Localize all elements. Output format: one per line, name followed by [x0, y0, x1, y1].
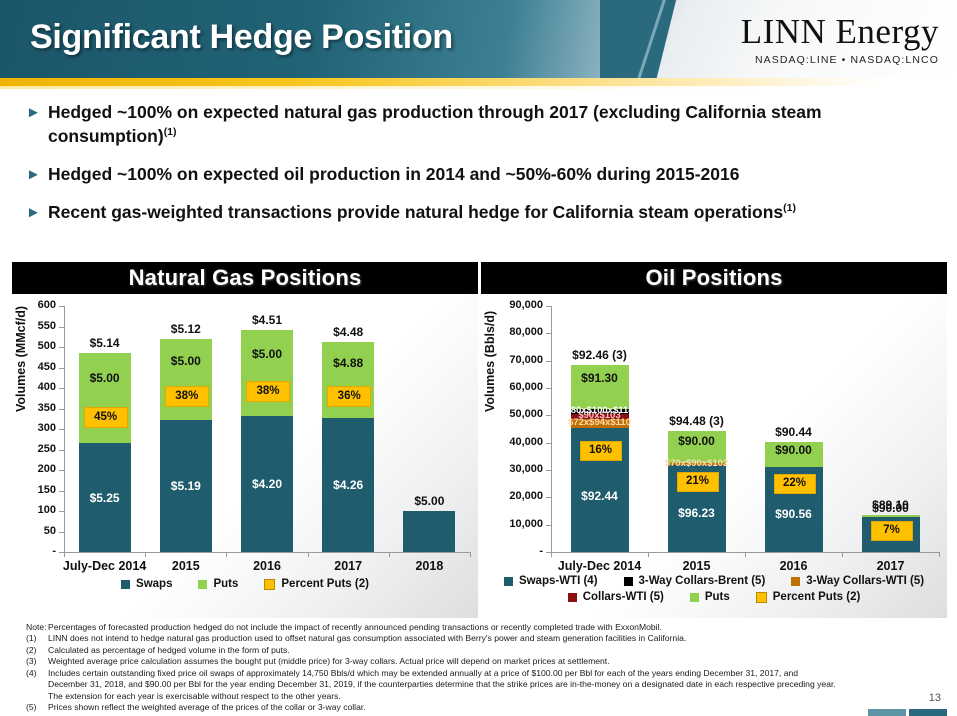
footnote-ref: (1)	[783, 203, 796, 215]
y-axis-tick-label: 450	[26, 361, 56, 373]
footnote-row: (1)LINN does not intend to hedge natural…	[26, 633, 936, 644]
legend-swatch	[624, 577, 633, 586]
bar-puts-price-label: $5.00	[221, 347, 313, 361]
bar-puts-price-label: $90.00	[743, 443, 845, 457]
slide: Significant Hedge Position LINN Energy N…	[0, 0, 957, 716]
footnote-marker: (2)	[26, 645, 48, 656]
footnote-marker: Note:	[26, 622, 48, 633]
bar-total-label: $90.44	[734, 425, 854, 439]
percent-puts-badge: 38%	[246, 381, 290, 402]
footer-tab	[868, 709, 906, 716]
bullet-body: Hedged ~100% on expected natural gas pro…	[48, 102, 822, 146]
y-axis-tick-mark	[59, 429, 64, 430]
header-accent-bar	[0, 78, 957, 86]
bar-total-label: $5.00	[369, 494, 489, 508]
footnote-ref: (1)	[164, 126, 177, 138]
y-axis-tick-label: 350	[26, 402, 56, 414]
triangle-right-icon: ►	[26, 205, 48, 220]
y-axis-tick-mark	[59, 450, 64, 451]
y-axis-tick-label: 250	[26, 443, 56, 455]
y-axis-tick-mark	[59, 532, 64, 533]
bar-swaps-price-label: $5.19	[140, 479, 232, 493]
footnote-row: The extension for each year is exercisab…	[26, 691, 936, 702]
bullet-list: ► Hedged ~100% on expected natural gas p…	[26, 100, 936, 239]
legend-row: Collars-WTI (5)PutsPercent Puts (2)	[481, 591, 947, 603]
percent-puts-badge: 7%	[871, 521, 913, 541]
legend-item: Swaps	[121, 578, 172, 590]
y-axis-tick-label: 30,000	[493, 463, 543, 475]
legend-swatch	[756, 592, 767, 603]
oil-legend: Swaps-WTI (4)3-Way Collars-Brent (5)3-Wa…	[481, 575, 947, 607]
list-item: ► Hedged ~100% on expected natural gas p…	[26, 100, 936, 148]
bar-puts-price-label: $90.00	[646, 434, 748, 448]
bullet-text: Recent gas-weighted transactions provide…	[48, 200, 796, 224]
y-axis-tick-mark	[59, 306, 64, 307]
footnote-marker	[26, 679, 48, 690]
legend-label: 3-Way Collars-Brent (5)	[639, 575, 766, 587]
triangle-right-icon: ►	[26, 105, 48, 120]
x-axis-tick-mark	[226, 552, 227, 557]
x-axis-tick-mark	[939, 552, 940, 557]
footnote-marker: (4)	[26, 668, 48, 679]
legend-swatch	[568, 593, 577, 602]
chart-title-natural-gas: Natural Gas Positions	[12, 262, 478, 294]
legend-swatch	[198, 580, 207, 589]
bullet-body: Hedged ~100% on expected oil production …	[48, 164, 739, 184]
legend-label: Swaps-WTI (4)	[519, 575, 598, 587]
y-axis-tick-label: 50,000	[493, 408, 543, 420]
bar-3way-wti-label: $70x$90x$102	[644, 458, 750, 469]
legend-label: Puts	[705, 591, 730, 603]
y-axis-tick-label: 80,000	[493, 326, 543, 338]
bar-total-label: $92.46 (3)	[540, 348, 660, 362]
percent-puts-badge: 21%	[677, 472, 719, 492]
bar-segment	[862, 515, 920, 517]
list-item: ► Hedged ~100% on expected oil productio…	[26, 162, 936, 186]
legend-item: Percent Puts (2)	[264, 578, 369, 590]
x-axis-tick-mark	[470, 552, 471, 557]
x-axis-tick-mark	[551, 552, 552, 557]
linn-energy-logo: LINN Energy NASDAQ:LINE • NASDAQ:LNCO	[741, 14, 939, 66]
page-number: 13	[929, 692, 941, 704]
legend-item: Collars-WTI (5)	[568, 591, 664, 603]
footnote-text: Percentages of forecasted production hed…	[48, 622, 936, 633]
bar-segment	[403, 511, 455, 552]
oil-plot-area: Volumes (Bbls/d) -10,00020,00030,00040,0…	[481, 294, 947, 618]
natural-gas-plot-area: Volumes (MMcf/d) -5010015020025030035040…	[12, 294, 478, 618]
footnote-text: Weighted average price calculation assum…	[48, 656, 936, 667]
slide-header: Significant Hedge Position LINN Energy N…	[0, 0, 957, 78]
triangle-right-icon: ►	[26, 167, 48, 182]
legend-row: Swaps-WTI (4)3-Way Collars-Brent (5)3-Wa…	[481, 575, 947, 587]
y-axis-tick-mark	[59, 409, 64, 410]
logo-ticker-line: NASDAQ:LINE • NASDAQ:LNCO	[741, 54, 939, 66]
header-accent-bar-fade	[0, 86, 957, 89]
x-axis-tick-mark	[842, 552, 843, 557]
legend-label: Puts	[213, 578, 238, 590]
x-axis-tick-mark	[389, 552, 390, 557]
legend-item: 3-Way Collars-WTI (5)	[791, 575, 924, 587]
bullet-text: Hedged ~100% on expected oil production …	[48, 162, 739, 186]
y-axis-tick-mark	[546, 525, 551, 526]
y-axis-tick-label: 60,000	[493, 381, 543, 393]
y-axis-tick-label: 50	[26, 525, 56, 537]
bar-puts-price-label: $5.00	[140, 354, 232, 368]
legend-item: Percent Puts (2)	[756, 591, 861, 603]
y-axis-tick-mark	[59, 388, 64, 389]
y-axis-tick-mark	[546, 443, 551, 444]
x-axis-tick-label: 2017	[831, 559, 951, 573]
bar-total-label: $4.48	[288, 325, 408, 339]
footnote-text: December 31, 2018, and $90.00 per Bbl fo…	[48, 679, 936, 690]
bar-total-label: $5.14	[45, 336, 165, 350]
bar-swaps-price-label: $90.56	[743, 507, 845, 521]
x-axis-tick-mark	[648, 552, 649, 557]
legend-swatch	[264, 579, 275, 590]
percent-puts-badge: 45%	[84, 407, 128, 428]
y-axis-tick-label: 100	[26, 504, 56, 516]
y-axis-tick-label: -	[493, 545, 543, 557]
y-axis-tick-mark	[546, 306, 551, 307]
bar-swaps-price-label: $4.26	[302, 478, 394, 492]
x-axis-tick-mark	[308, 552, 309, 557]
footnote-row: (2)Calculated as percentage of hedged vo…	[26, 645, 936, 656]
legend-label: Percent Puts (2)	[773, 591, 861, 603]
percent-puts-badge: 38%	[165, 386, 209, 407]
y-axis-tick-label: 400	[26, 381, 56, 393]
legend-label: Percent Puts (2)	[281, 578, 369, 590]
bullet-body: Recent gas-weighted transactions provide…	[48, 202, 783, 222]
bar-swaps-price-label: $4.20	[221, 477, 313, 491]
legend-item: Puts	[690, 591, 730, 603]
legend-swatch	[121, 580, 130, 589]
y-axis-tick-label: 90,000	[493, 299, 543, 311]
footnote-row: (5)Prices shown reflect the weighted ave…	[26, 702, 936, 713]
x-axis-tick-mark	[745, 552, 746, 557]
y-axis-tick-mark	[546, 333, 551, 334]
bar-puts-price-label: $91.30	[549, 371, 651, 385]
y-axis-tick-label: -	[26, 545, 56, 557]
footnote-text: Calculated as percentage of hedged volum…	[48, 645, 936, 656]
oil-chart-panel: Oil Positions Volumes (Bbls/d) -10,00020…	[481, 262, 947, 618]
y-axis-tick-label: 200	[26, 463, 56, 475]
legend-label: 3-Way Collars-WTI (5)	[806, 575, 924, 587]
y-axis-tick-label: 150	[26, 484, 56, 496]
footnote-text: The extension for each year is exercisab…	[48, 691, 936, 702]
footnote-row: (4)Includes certain outstanding fixed pr…	[26, 668, 936, 679]
legend-row: SwapsPutsPercent Puts (2)	[12, 578, 478, 590]
y-axis-tick-label: 600	[26, 299, 56, 311]
y-axis-tick-mark	[59, 470, 64, 471]
y-axis-line	[551, 306, 552, 552]
legend-item: 3-Way Collars-Brent (5)	[624, 575, 766, 587]
y-axis-tick-label: 550	[26, 320, 56, 332]
bar-swaps-price-label: $96.23	[646, 506, 748, 520]
natural-gas-chart-panel: Natural Gas Positions Volumes (MMcf/d) -…	[12, 262, 478, 618]
y-axis-tick-mark	[59, 511, 64, 512]
bullet-text: Hedged ~100% on expected natural gas pro…	[48, 100, 908, 148]
legend-label: Swaps	[136, 578, 172, 590]
footnotes: Note:Percentages of forecasted productio…	[26, 622, 936, 713]
bar-segment	[241, 330, 293, 416]
percent-puts-badge: 36%	[327, 386, 371, 407]
bar-puts-price-label: $5.00	[59, 371, 151, 385]
chart-title-oil: Oil Positions	[481, 262, 947, 294]
legend-swatch	[504, 577, 513, 586]
percent-puts-badge: 16%	[580, 441, 622, 461]
percent-puts-badge: 22%	[774, 474, 816, 494]
footer-tabs	[868, 709, 947, 716]
bar-swaps-price-label: $92.44	[549, 489, 651, 503]
natural-gas-legend: SwapsPutsPercent Puts (2)	[12, 578, 478, 594]
page-title: Significant Hedge Position	[30, 18, 453, 57]
legend-label: Collars-WTI (5)	[583, 591, 664, 603]
footnote-row: December 31, 2018, and $90.00 per Bbl fo…	[26, 679, 936, 690]
x-axis-tick-mark	[145, 552, 146, 557]
footnote-row: (3)Weighted average price calculation as…	[26, 656, 936, 667]
footer-tab	[909, 709, 947, 716]
y-axis-tick-mark	[546, 388, 551, 389]
bar-puts-price-label: $4.88	[302, 356, 394, 370]
y-axis-tick-mark	[59, 327, 64, 328]
legend-swatch	[690, 593, 699, 602]
footnote-text: LINN does not intend to hedge natural ga…	[48, 633, 936, 644]
footnote-marker: (1)	[26, 633, 48, 644]
y-axis-tick-label: 40,000	[493, 436, 543, 448]
legend-item: Swaps-WTI (4)	[504, 575, 598, 587]
footnote-row: Note:Percentages of forecasted productio…	[26, 622, 936, 633]
bar-puts-price-label: $90.00	[840, 501, 942, 515]
footnote-marker: (5)	[26, 702, 48, 713]
list-item: ► Recent gas-weighted transactions provi…	[26, 200, 936, 224]
footnote-text: Includes certain outstanding fixed price…	[48, 668, 936, 679]
y-axis-tick-label: 300	[26, 422, 56, 434]
x-axis-line	[64, 552, 470, 553]
y-axis-tick-label: 70,000	[493, 354, 543, 366]
footnote-marker	[26, 691, 48, 702]
y-axis-tick-label: 20,000	[493, 490, 543, 502]
y-axis-tick-mark	[546, 470, 551, 471]
footnote-marker: (3)	[26, 656, 48, 667]
x-axis-tick-label: 2018	[369, 559, 489, 573]
bar-segment	[160, 339, 212, 420]
logo-wordmark: LINN Energy	[741, 14, 939, 49]
legend-item: Puts	[198, 578, 238, 590]
footnote-text: Prices shown reflect the weighted averag…	[48, 702, 936, 713]
bar-segment	[79, 353, 131, 443]
bar-swaps-price-label: $5.25	[59, 491, 151, 505]
y-axis-tick-label: 10,000	[493, 518, 543, 530]
x-axis-tick-mark	[64, 552, 65, 557]
legend-swatch	[791, 577, 800, 586]
y-axis-tick-mark	[59, 368, 64, 369]
